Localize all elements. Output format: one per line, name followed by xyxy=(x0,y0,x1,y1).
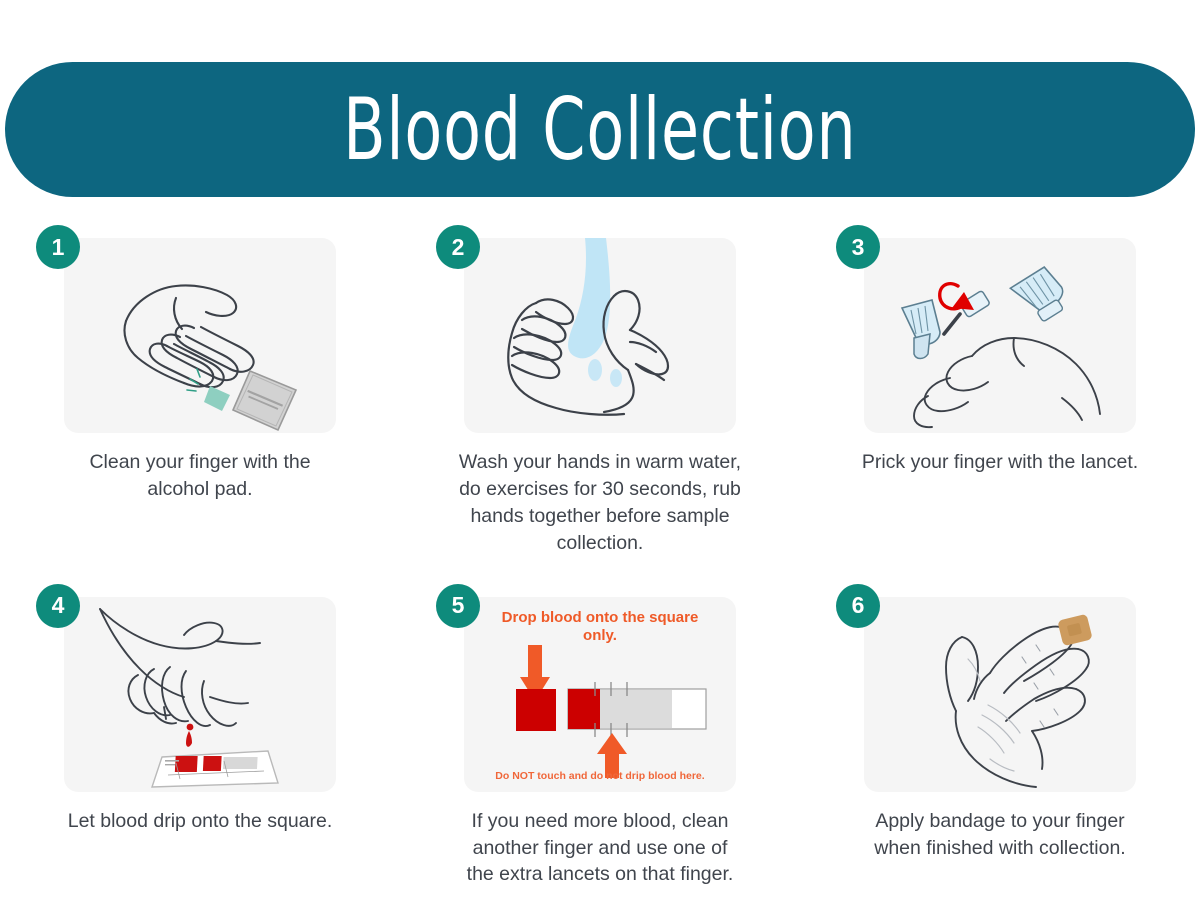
step-number-badge-1: 1 xyxy=(36,225,80,269)
hands-washing-under-water-icon xyxy=(464,238,736,433)
steps-grid: 1 xyxy=(0,238,1200,888)
header-banner: Blood Collection xyxy=(5,62,1195,197)
step-card-6: 6 xyxy=(800,597,1200,889)
step-4-caption: Let blood drip onto the square. xyxy=(57,808,343,835)
step-number-badge-3: 3 xyxy=(836,225,880,269)
infographic-page: Blood Collection 1 xyxy=(0,0,1200,900)
page-title: Blood Collection xyxy=(343,87,856,173)
step-number-badge-5: 5 xyxy=(436,584,480,628)
step-2-caption: Wash your hands in warm water, do exerci… xyxy=(457,449,743,557)
step-5-warning: Do NOT touch and do not drip blood here. xyxy=(490,770,710,784)
step-card-3: 3 xyxy=(800,238,1200,557)
step-2-illustration-panel: 2 xyxy=(464,238,736,433)
hand-with-lancet-icon xyxy=(864,238,1136,433)
step-1-illustration-panel: 1 xyxy=(64,238,336,433)
step-card-2: 2 xyxy=(400,238,800,557)
step-3-illustration-panel: 3 xyxy=(864,238,1136,433)
step-5-illustration-panel: 5 xyxy=(464,597,736,792)
blood-drip-onto-card-icon xyxy=(64,597,336,792)
step-5-caption: If you need more blood, clean another fi… xyxy=(457,808,743,889)
step-card-5: 5 xyxy=(400,597,800,889)
step-number-badge-6: 6 xyxy=(836,584,880,628)
step-1-caption: Clean your finger with the alcohol pad. xyxy=(57,449,343,503)
step-6-caption: Apply bandage to your finger when finish… xyxy=(857,808,1143,862)
step-card-4: 4 xyxy=(0,597,400,889)
step-5-headline: Drop blood onto the square only. xyxy=(500,609,700,647)
hand-with-alcohol-pad-icon xyxy=(64,238,336,433)
step-number-badge-2: 2 xyxy=(436,225,480,269)
step-card-1: 1 xyxy=(0,238,400,557)
step-6-illustration-panel: 6 xyxy=(864,597,1136,792)
step-4-illustration-panel: 4 xyxy=(64,597,336,792)
step-3-caption: Prick your finger with the lancet. xyxy=(857,449,1143,476)
step-number-badge-4: 4 xyxy=(36,584,80,628)
hand-with-bandage-icon xyxy=(864,597,1136,792)
